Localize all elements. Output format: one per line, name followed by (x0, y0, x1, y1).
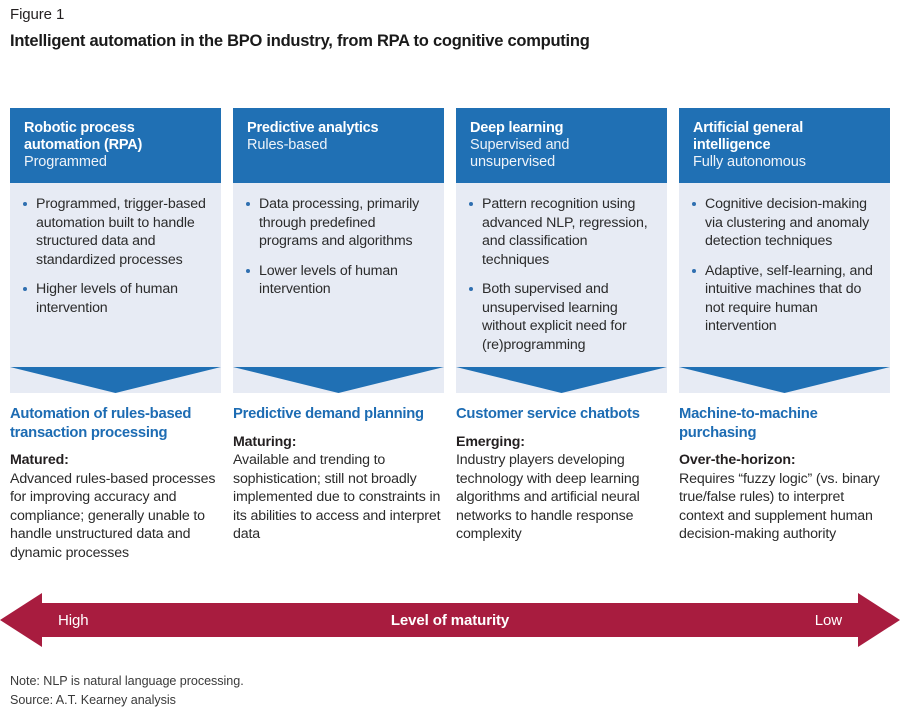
stage-title: Robotic process automation (RPA) (24, 120, 207, 154)
bullet-dot-icon (692, 269, 696, 273)
stage-header-deep-learning: Deep learning Supervised and unsupervise… (456, 108, 667, 183)
stage-bullet-list: Cognitive decision-making via clustering… (691, 195, 878, 336)
bullet-text: Lower levels of human intervention (259, 263, 398, 298)
figure-title: Intelligent automation in the BPO indust… (10, 31, 590, 51)
bullet-dot-icon (469, 287, 473, 291)
stage-subtitle: Supervised and unsupervised (470, 137, 653, 171)
stage-header-artificial-general-intelligence: Artificial general intelligence Fully au… (679, 108, 890, 183)
use-case-stage-label: Emerging: (456, 433, 667, 452)
use-case-column-transaction-processing: Automation of rules-based transaction pr… (10, 405, 221, 585)
down-triangle-icon (679, 367, 890, 393)
use-case-description: Requires “fuzzy logic” (vs. binary true/… (679, 470, 890, 544)
bullet-text: Programmed, trigger-based automation bui… (36, 196, 206, 268)
use-case-title: Customer service chatbots (456, 405, 667, 424)
stage-body-artificial-general-intelligence: Cognitive decision-making via clustering… (679, 183, 890, 393)
stage-bullet-list: Programmed, trigger-based automation bui… (22, 195, 209, 317)
bullet-dot-icon (692, 202, 696, 206)
bullet-dot-icon (23, 287, 27, 291)
stage-subtitle: Programmed (24, 154, 207, 171)
stage-title: Artificial general intelligence (693, 120, 876, 154)
list-item: Higher levels of human intervention (22, 280, 209, 317)
source-text: Source: A.T. Kearney analysis (10, 691, 244, 710)
use-cases-row: Automation of rules-based transaction pr… (10, 405, 890, 585)
stage-column-artificial-general-intelligence: Artificial general intelligence Fully au… (679, 108, 890, 393)
bullet-dot-icon (23, 202, 27, 206)
use-case-column-machine-to-machine-purchasing: Machine-to-machine purchasing Over-the-h… (679, 405, 890, 585)
use-case-title: Predictive demand planning (233, 405, 444, 424)
maturity-label-center: Level of maturity (0, 593, 900, 647)
list-item: Both supervised and unsupervised learnin… (468, 280, 655, 354)
bullet-text: Data processing, primarily through prede… (259, 196, 419, 249)
stage-title: Predictive analytics (247, 120, 430, 137)
bullet-text: Higher levels of human intervention (36, 281, 178, 316)
down-triangle-icon (233, 367, 444, 393)
use-case-stage-label: Matured: (10, 451, 221, 470)
list-item: Lower levels of human intervention (245, 262, 432, 299)
list-item: Adaptive, self-learning, and intuitive m… (691, 262, 878, 336)
use-case-column-chatbots: Customer service chatbots Emerging: Indu… (456, 405, 667, 585)
stage-title: Deep learning (470, 120, 653, 137)
stage-body-rpa: Programmed, trigger-based automation bui… (10, 183, 221, 393)
stage-column-predictive-analytics: Predictive analytics Rules-based Data pr… (233, 108, 444, 393)
list-item: Data processing, primarily through prede… (245, 195, 432, 251)
use-case-description: Available and trending to sophistication… (233, 451, 444, 544)
bullet-dot-icon (246, 269, 250, 273)
bullet-dot-icon (469, 202, 473, 206)
stage-columns-row: Robotic process automation (RPA) Program… (10, 108, 890, 393)
down-triangle-icon (456, 367, 667, 393)
stage-bullet-list: Pattern recognition using advanced NLP, … (468, 195, 655, 354)
stage-header-rpa: Robotic process automation (RPA) Program… (10, 108, 221, 183)
figure-label: Figure 1 (10, 6, 64, 24)
stage-subtitle: Rules-based (247, 137, 430, 154)
list-item: Pattern recognition using advanced NLP, … (468, 195, 655, 269)
use-case-description: Industry players developing technology w… (456, 451, 667, 544)
stage-column-deep-learning: Deep learning Supervised and unsupervise… (456, 108, 667, 393)
maturity-label-low: Low (815, 593, 842, 647)
triangle-connectors-row (10, 367, 890, 393)
stage-body-predictive-analytics: Data processing, primarily through prede… (233, 183, 444, 393)
stage-column-rpa: Robotic process automation (RPA) Program… (10, 108, 221, 393)
maturity-axis-arrow: High Level of maturity Low (0, 593, 900, 647)
use-case-title: Automation of rules-based transaction pr… (10, 405, 221, 442)
bullet-text: Pattern recognition using advanced NLP, … (482, 196, 648, 268)
triangle-cell (10, 367, 221, 393)
use-case-stage-label: Over-the-horizon: (679, 451, 890, 470)
use-case-stage-label: Maturing: (233, 433, 444, 452)
triangle-cell (456, 367, 667, 393)
bullet-text: Both supervised and unsupervised learnin… (482, 281, 627, 353)
bullet-dot-icon (246, 202, 250, 206)
triangle-cell (233, 367, 444, 393)
bullet-text: Cognitive decision-making via clustering… (705, 196, 869, 249)
stage-body-deep-learning: Pattern recognition using advanced NLP, … (456, 183, 667, 393)
use-case-column-demand-planning: Predictive demand planning Maturing: Ava… (233, 405, 444, 585)
stage-subtitle: Fully autonomous (693, 154, 876, 171)
stage-bullet-list: Data processing, primarily through prede… (245, 195, 432, 299)
down-triangle-icon (10, 367, 221, 393)
footnotes: Note: NLP is natural language processing… (10, 672, 244, 710)
list-item: Cognitive decision-making via clustering… (691, 195, 878, 251)
stage-header-predictive-analytics: Predictive analytics Rules-based (233, 108, 444, 183)
list-item: Programmed, trigger-based automation bui… (22, 195, 209, 269)
note-text: Note: NLP is natural language processing… (10, 672, 244, 691)
use-case-description: Advanced rules-based processes for impro… (10, 470, 221, 563)
use-case-title: Machine-to-machine purchasing (679, 405, 890, 442)
triangle-cell (679, 367, 890, 393)
bullet-text: Adaptive, self-learning, and intuitive m… (705, 263, 873, 335)
